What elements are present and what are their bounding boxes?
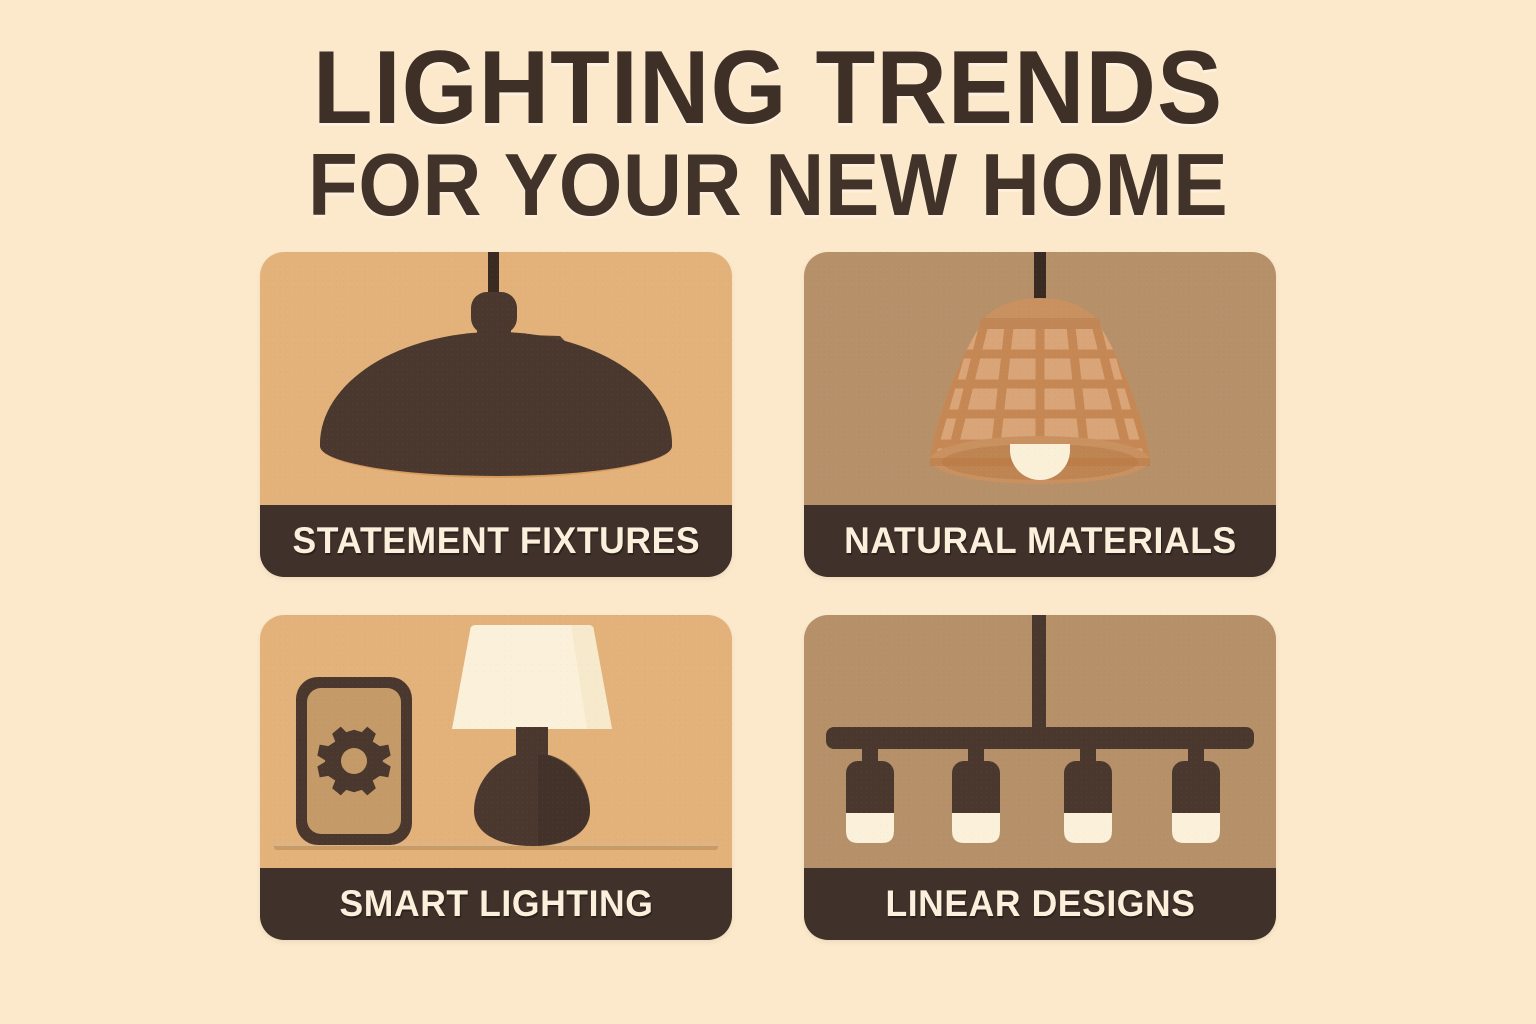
card-artwork-natural-materials (804, 252, 1276, 505)
card-artwork-smart-lighting (260, 615, 732, 868)
card-artwork-statement-fixtures (260, 252, 732, 505)
trend-card-statement-fixtures[interactable]: STATEMENT FIXTURES (260, 252, 732, 577)
dome-pendant-lamp-icon (260, 252, 732, 505)
trend-card-linear-designs[interactable]: LINEAR DESIGNS (804, 615, 1276, 940)
pendant-light-3 (1064, 745, 1112, 843)
trend-card-grid: STATEMENT FIXTURES (260, 252, 1276, 940)
page-title: LIGHTING TRENDS (46, 38, 1490, 139)
card-label-linear-designs: LINEAR DESIGNS (804, 868, 1276, 940)
pendant-light-2 (952, 745, 1000, 843)
page-subtitle: FOR YOUR NEW HOME (54, 139, 1482, 231)
card-label-text: NATURAL MATERIALS (844, 520, 1237, 562)
poster-title-block: LIGHTING TRENDS FOR YOUR NEW HOME (0, 0, 1536, 230)
card-label-natural-materials: NATURAL MATERIALS (804, 505, 1276, 577)
pendant-light-4 (1172, 745, 1220, 843)
rattan-pendant-lamp-icon (804, 252, 1276, 505)
table-lamp-icon (452, 625, 612, 846)
lighting-trends-poster: LIGHTING TRENDS FOR YOUR NEW HOME (0, 0, 1536, 1024)
card-artwork-linear-designs (804, 615, 1276, 868)
card-label-text: LINEAR DESIGNS (885, 883, 1195, 925)
card-label-statement-fixtures: STATEMENT FIXTURES (260, 505, 732, 577)
pendant-light-1 (846, 745, 894, 843)
smartphone-icon (296, 677, 412, 845)
card-label-text: SMART LIGHTING (339, 883, 653, 925)
linear-bar-pendant-lights-icon (804, 615, 1276, 868)
trend-card-smart-lighting[interactable]: SMART LIGHTING (260, 615, 732, 940)
card-label-smart-lighting: SMART LIGHTING (260, 868, 732, 940)
card-label-text: STATEMENT FIXTURES (292, 520, 700, 562)
trend-card-natural-materials[interactable]: NATURAL MATERIALS (804, 252, 1276, 577)
smartphone-and-table-lamp-icon (260, 615, 732, 868)
